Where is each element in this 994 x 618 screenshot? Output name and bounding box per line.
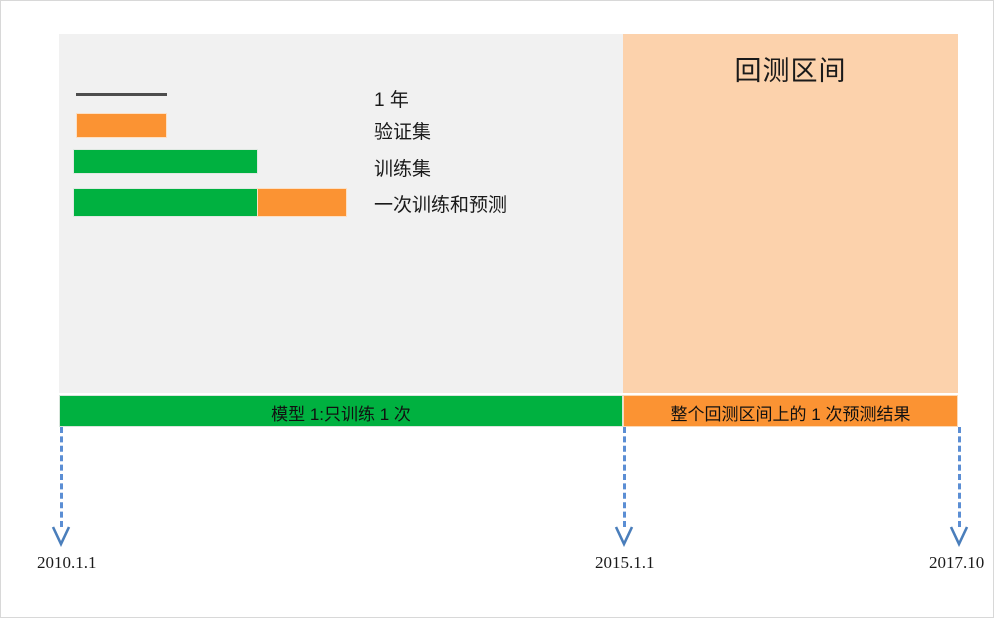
legend-swatch-training-set [73, 149, 258, 174]
timeline-training-segment-label: 模型 1:只训练 1 次 [59, 400, 623, 425]
arrow-down-icon [51, 525, 71, 547]
legend-one-year-rule [76, 93, 167, 96]
legend-label-training-set: 训练集 [374, 154, 431, 181]
timeline-marker-start-label: 2010.1.1 [37, 553, 97, 573]
diagram-canvas: 回测区间 1 年 验证集 训练集 一次训练和预测 模型 1:只训练 1 次 整个… [0, 0, 994, 618]
arrow-down-icon [949, 525, 969, 547]
legend-label-train-and-predict: 一次训练和预测 [374, 190, 507, 217]
legend-label-validation-set: 验证集 [374, 117, 431, 144]
timeline-marker-backtest-start-label: 2015.1.1 [595, 553, 655, 573]
marker-dashed-line [623, 427, 626, 527]
legend-swatch-train-predict-train-part [73, 188, 258, 217]
marker-dashed-line [60, 427, 63, 527]
timeline-prediction-segment-label: 整个回测区间上的 1 次预测结果 [623, 400, 958, 425]
legend-label-one-year: 1 年 [374, 85, 409, 112]
arrow-down-icon [614, 525, 634, 547]
marker-dashed-line [958, 427, 961, 527]
timeline-marker-end-label: 2017.10 [929, 553, 984, 573]
legend-swatch-validation-set [76, 113, 167, 138]
legend-swatch-train-predict-predict-part [257, 188, 347, 217]
backtest-region-title: 回测区间 [623, 49, 958, 88]
